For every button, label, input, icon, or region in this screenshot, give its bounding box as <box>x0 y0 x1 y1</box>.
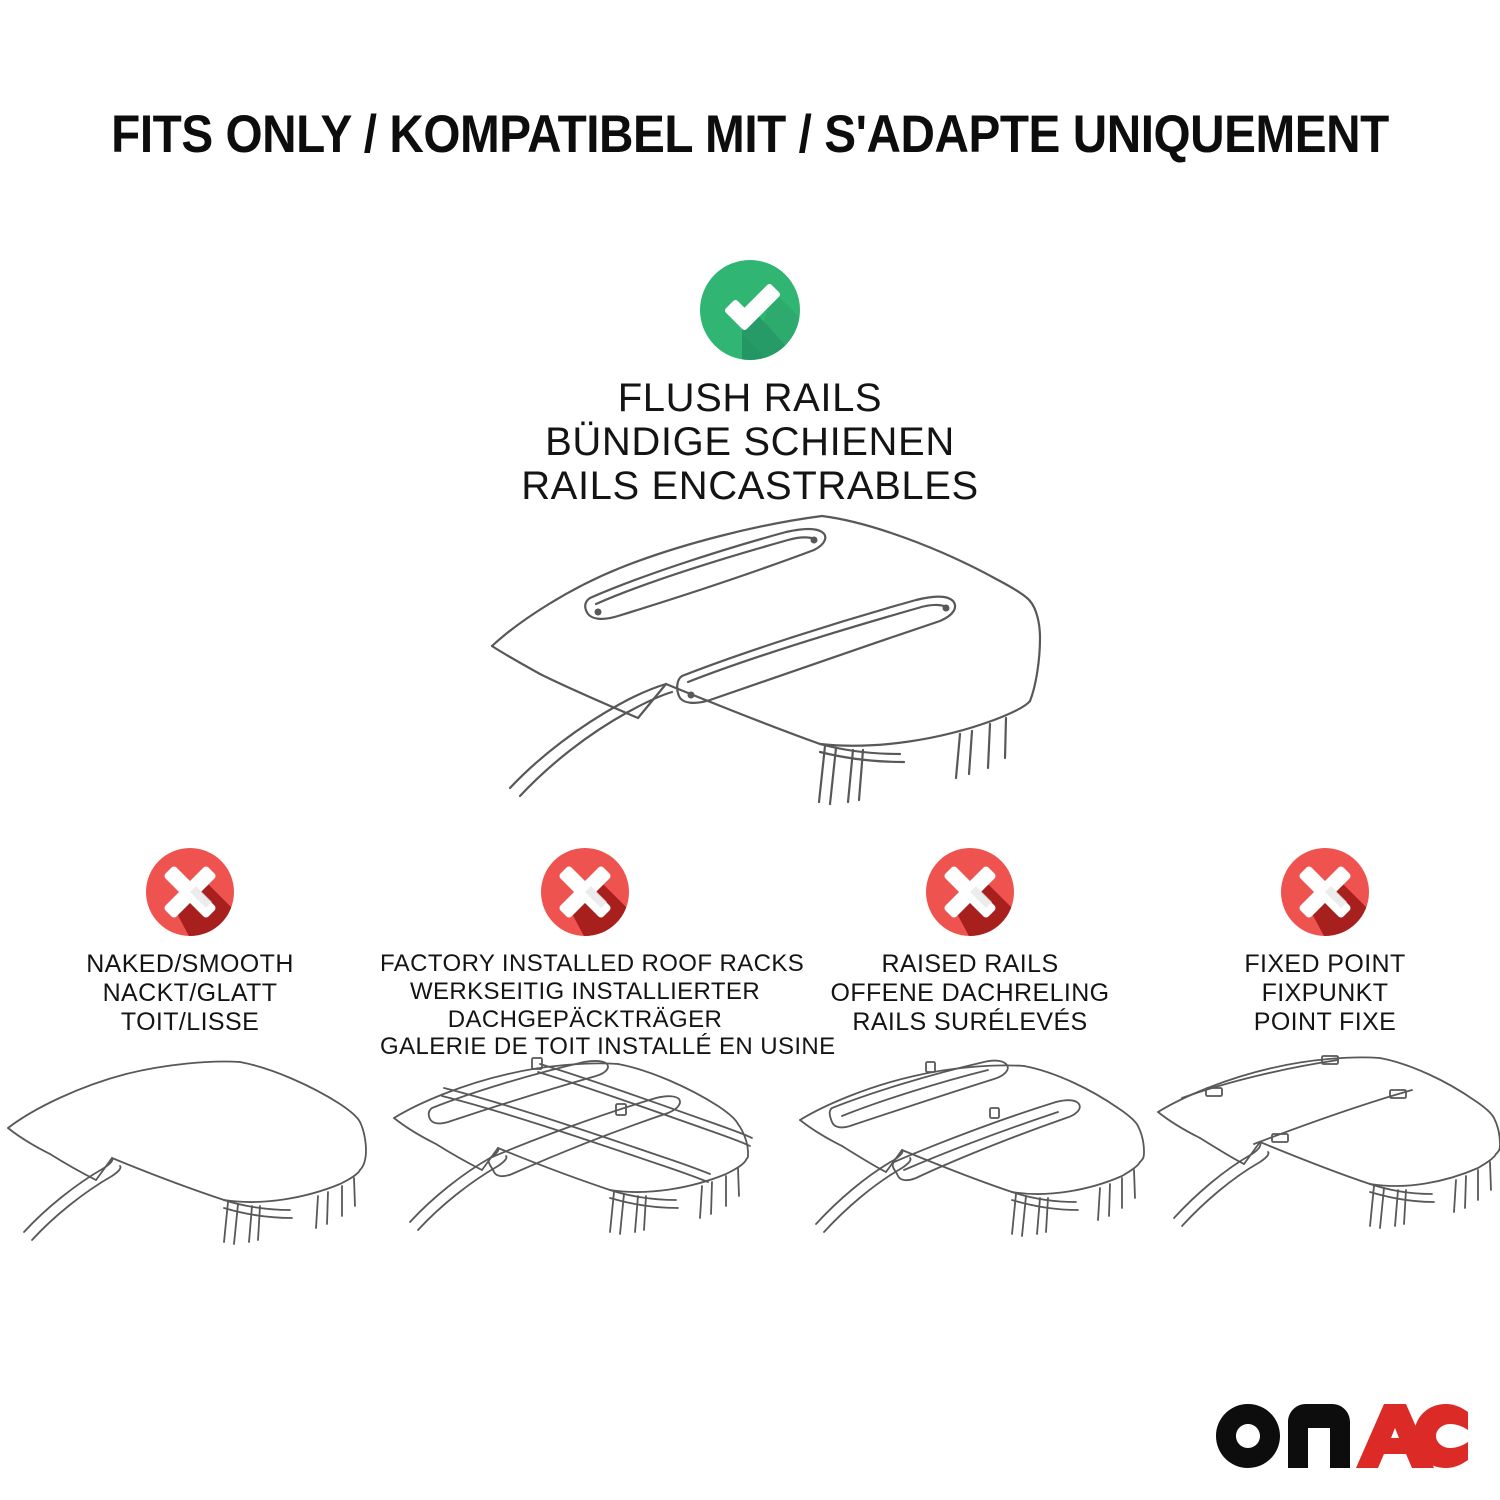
x-circle-icon <box>1279 846 1371 938</box>
logo-om-black <box>1216 1404 1350 1468</box>
incompatible-column-naked-smooth: NAKED/SMOOTH NACKT/GLATT TOIT/LISSE <box>0 846 380 1061</box>
label-de-1: WERKSEITIG INSTALLIERTER <box>380 978 790 1006</box>
incompatible-column-fixed-point: FIXED POINT FIXPUNKT POINT FIXE <box>1150 846 1500 1061</box>
label-de: NACKT/GLATT <box>0 979 380 1008</box>
check-circle-icon <box>698 258 802 362</box>
x-circle-icon <box>539 846 631 938</box>
label-en: FACTORY INSTALLED ROOF RACKS <box>380 950 790 978</box>
label-fr: POINT FIXE <box>1150 1008 1500 1037</box>
car-roof-fixed-point-illustration <box>1150 1046 1500 1256</box>
page-title: FITS ONLY / KOMPATIBEL MIT / S'ADAPTE UN… <box>75 104 1425 165</box>
label-de: FIXPUNKT <box>1150 979 1500 1008</box>
compatible-section: FLUSH RAILS BÜNDIGE SCHIENEN RAILS ENCAS… <box>0 258 1500 508</box>
incompatible-labels: RAISED RAILS OFFENE DACHRELING RAILS SUR… <box>790 950 1150 1037</box>
x-circle-icon <box>144 846 236 938</box>
car-roof-naked-smooth-illustration <box>0 1046 380 1256</box>
car-roof-raised-rails-illustration <box>790 1046 1150 1256</box>
label-de-2: DACHGEPÄCKTRÄGER <box>380 1006 790 1034</box>
compatible-label-de: BÜNDIGE SCHIENEN <box>0 420 1500 464</box>
label-de: OFFENE DACHRELING <box>790 979 1150 1008</box>
label-en: NAKED/SMOOTH <box>0 950 380 979</box>
incompatible-column-factory-roof-racks: FACTORY INSTALLED ROOF RACKS WERKSEITIG … <box>380 846 790 1061</box>
incompatible-labels: FIXED POINT FIXPUNKT POINT FIXE <box>1150 950 1500 1037</box>
incompatible-sections: NAKED/SMOOTH NACKT/GLATT TOIT/LISSE <box>0 846 1500 1061</box>
x-circle-icon <box>924 846 1016 938</box>
incompatible-labels: NAKED/SMOOTH NACKT/GLATT TOIT/LISSE <box>0 950 380 1037</box>
label-en: RAISED RAILS <box>790 950 1150 979</box>
incompatible-labels: FACTORY INSTALLED ROOF RACKS WERKSEITIG … <box>380 950 790 1061</box>
car-roof-with-flush-rails-illustration <box>470 488 1050 808</box>
car-roof-factory-installed-roof-racks-illustration <box>380 1046 790 1256</box>
incompatible-column-raised-rails: RAISED RAILS OFFENE DACHRELING RAILS SUR… <box>790 846 1150 1061</box>
label-fr: TOIT/LISSE <box>0 1008 380 1037</box>
logo-ac-red <box>1356 1404 1468 1468</box>
compatible-label-en: FLUSH RAILS <box>0 376 1500 420</box>
label-fr: RAILS SURÉLEVÉS <box>790 1008 1150 1037</box>
label-en: FIXED POINT <box>1150 950 1500 979</box>
omac-logo <box>1216 1404 1468 1478</box>
